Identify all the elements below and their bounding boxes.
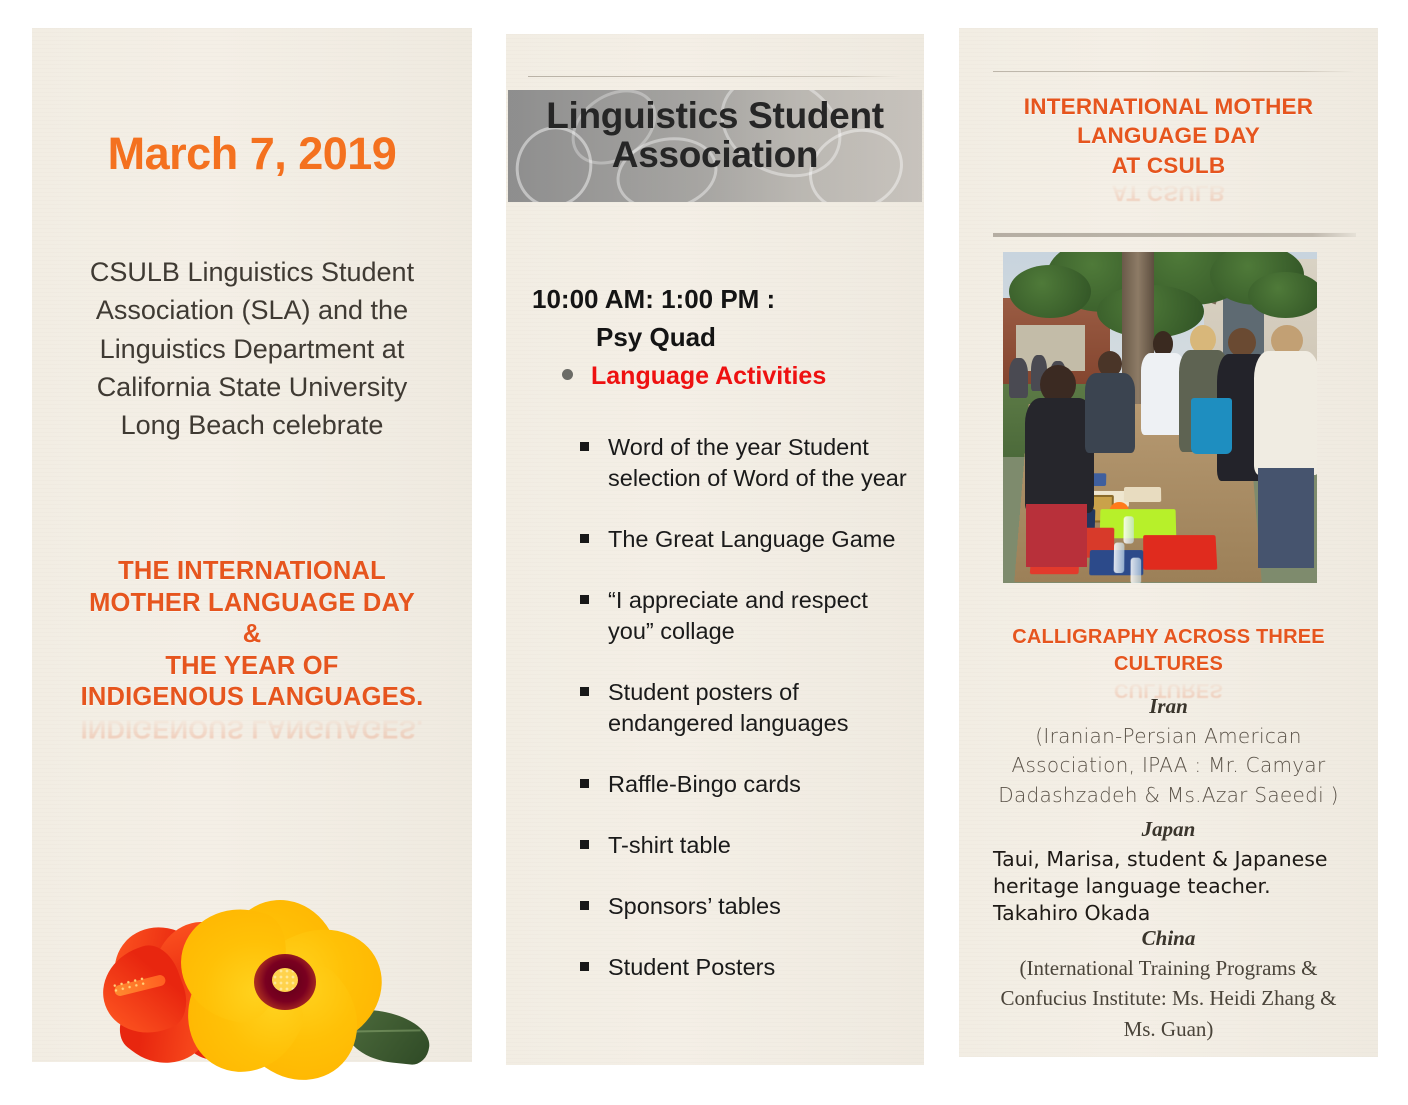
- culture-name-iran: Iran: [959, 694, 1378, 719]
- event-time: 10:00 AM: 1:00 PM :: [532, 284, 775, 315]
- activity-list: Word of the year Student selection of Wo…: [580, 432, 908, 1013]
- headline-reflection: INDIGENOUS LANGUAGES.: [48, 712, 456, 744]
- calligraphy-heading: CALLIGRAPHY ACROSS THREE CULTURES CULTUR…: [973, 624, 1364, 702]
- headline-line-2: MOTHER LANGUAGE DAY: [48, 588, 456, 620]
- left-panel: March 7, 2019 CSULB Linguistics Student …: [32, 28, 472, 1062]
- calligraphy-heading-line-2: CULTURES: [973, 651, 1364, 678]
- sla-logo-banner: Linguistics Student Association: [508, 90, 922, 202]
- middle-panel: Linguistics Student Association 10:00 AM…: [506, 34, 924, 1065]
- list-item: The Great Language Game: [580, 524, 908, 555]
- language-activities-heading: Language Activities: [562, 362, 826, 391]
- divider-line-bottom: [993, 233, 1356, 237]
- culture-detail-japan: Taui, Marisa, student & Japanese heritag…: [993, 846, 1360, 927]
- sla-logo-text: Linguistics Student Association: [508, 96, 922, 174]
- right-heading-line-2: LANGUAGE DAY: [969, 121, 1368, 150]
- list-item: Raffle-Bingo cards: [580, 769, 908, 800]
- calligraphy-heading-line-1: CALLIGRAPHY ACROSS THREE: [973, 624, 1364, 651]
- yellow-hibiscus-icon: [188, 902, 384, 1080]
- list-item: T-shirt table: [580, 830, 908, 861]
- culture-name-china: China: [959, 926, 1378, 951]
- sla-logo-line-2: Association: [508, 135, 922, 174]
- list-item: Sponsors’ tables: [580, 891, 908, 922]
- culture-detail-china: (International Training Programs & Confu…: [989, 953, 1348, 1044]
- right-heading-line-1: INTERNATIONAL MOTHER: [969, 92, 1368, 121]
- headline-line-3: &: [48, 619, 456, 651]
- left-headline: THE INTERNATIONAL MOTHER LANGUAGE DAY & …: [48, 556, 456, 744]
- culture-name-japan: Japan: [959, 817, 1378, 842]
- right-panel: INTERNATIONAL MOTHER LANGUAGE DAY AT CSU…: [959, 28, 1378, 1057]
- headline-line-1: THE INTERNATIONAL: [48, 556, 456, 588]
- hibiscus-flowers-icon: [100, 900, 430, 1085]
- right-panel-heading: INTERNATIONAL MOTHER LANGUAGE DAY AT CSU…: [969, 92, 1368, 207]
- headline-line-4: THE YEAR OF: [48, 651, 456, 683]
- event-date: March 7, 2019: [32, 128, 472, 180]
- right-heading-reflection: AT CSULB: [969, 178, 1368, 207]
- language-activities-label: Language Activities: [591, 362, 826, 390]
- list-item: Word of the year Student selection of Wo…: [580, 432, 908, 494]
- divider-line-top: [993, 71, 1356, 72]
- round-bullet-icon: [562, 369, 573, 380]
- list-item: Student posters of endangered languages: [580, 677, 908, 739]
- sla-logo-line-1: Linguistics Student: [546, 95, 884, 136]
- list-item: Student Posters: [580, 952, 908, 983]
- culture-detail-iran: (Iranian-Persian American Association, I…: [983, 722, 1354, 810]
- list-item: “I appreciate and respect you” collage: [580, 585, 908, 647]
- intro-paragraph: CSULB Linguistics Student Association (S…: [74, 253, 430, 445]
- event-location: Psy Quad: [596, 322, 716, 353]
- event-photo: [1003, 252, 1317, 583]
- divider-line: [528, 76, 902, 77]
- headline-line-5: INDIGENOUS LANGUAGES.: [48, 682, 456, 714]
- right-heading-line-3: AT CSULB: [969, 151, 1368, 180]
